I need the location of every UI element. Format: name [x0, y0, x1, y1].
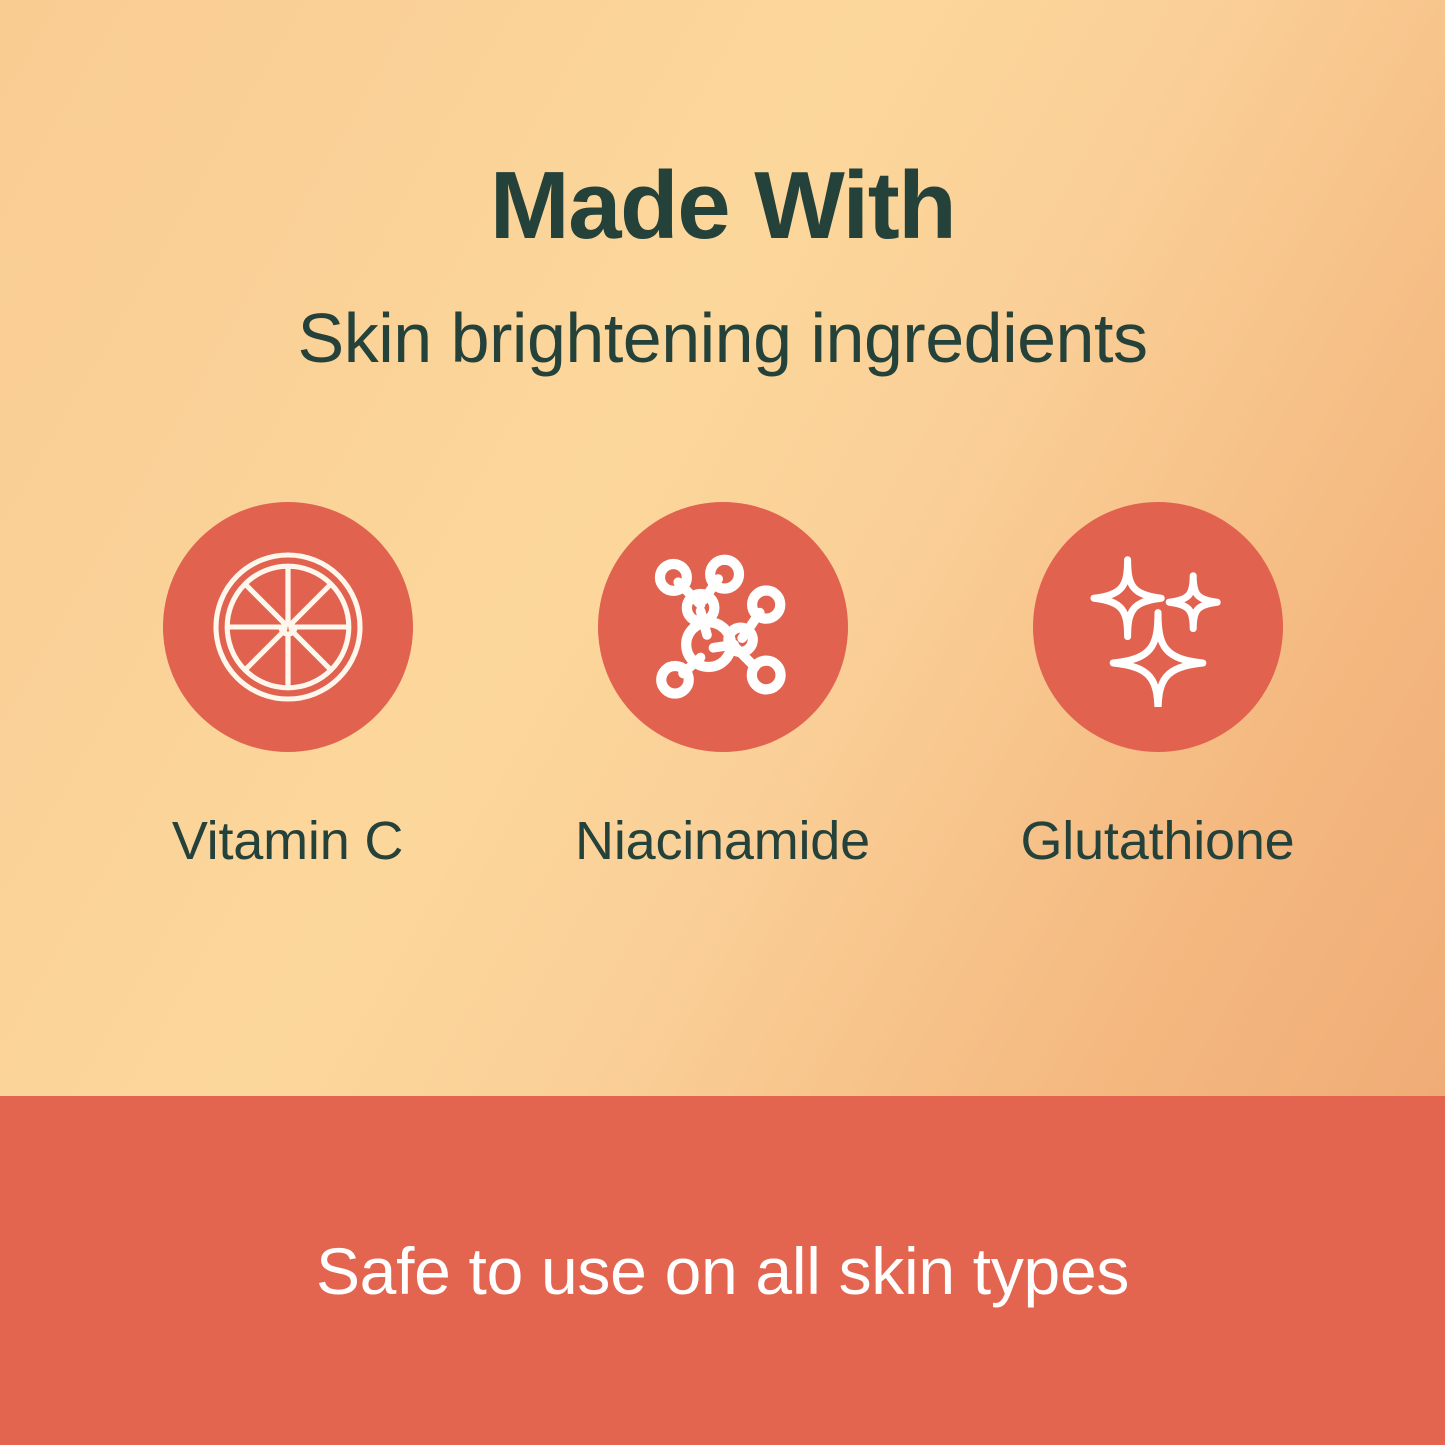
ingredient-item-niacinamide: Niacinamide [505, 502, 940, 872]
ingredient-label: Glutathione [1021, 810, 1295, 872]
bottom-banner: Safe to use on all skin types [0, 1096, 1445, 1445]
page-subtitle: Skin brightening ingredients [0, 300, 1445, 377]
banner-message: Safe to use on all skin types [0, 1096, 1445, 1445]
made-with-poster: Made With Skin brightening ingredients [0, 0, 1445, 1445]
ingredient-badge [1033, 502, 1283, 752]
page-title: Made With [0, 158, 1445, 254]
ingredient-badge [598, 502, 848, 752]
ingredient-badge [163, 502, 413, 752]
molecule-icon [643, 547, 803, 707]
ingredient-list: Vitamin C [0, 502, 1445, 872]
ingredient-label: Vitamin C [172, 810, 403, 872]
sparkles-icon [1078, 547, 1238, 707]
ingredient-label: Niacinamide [575, 810, 870, 872]
citrus-slice-icon [208, 547, 368, 707]
top-cream-panel: Made With Skin brightening ingredients [0, 0, 1445, 1096]
ingredient-item-glutathione: Glutathione [940, 502, 1375, 872]
ingredient-item-vitamin-c: Vitamin C [70, 502, 505, 872]
